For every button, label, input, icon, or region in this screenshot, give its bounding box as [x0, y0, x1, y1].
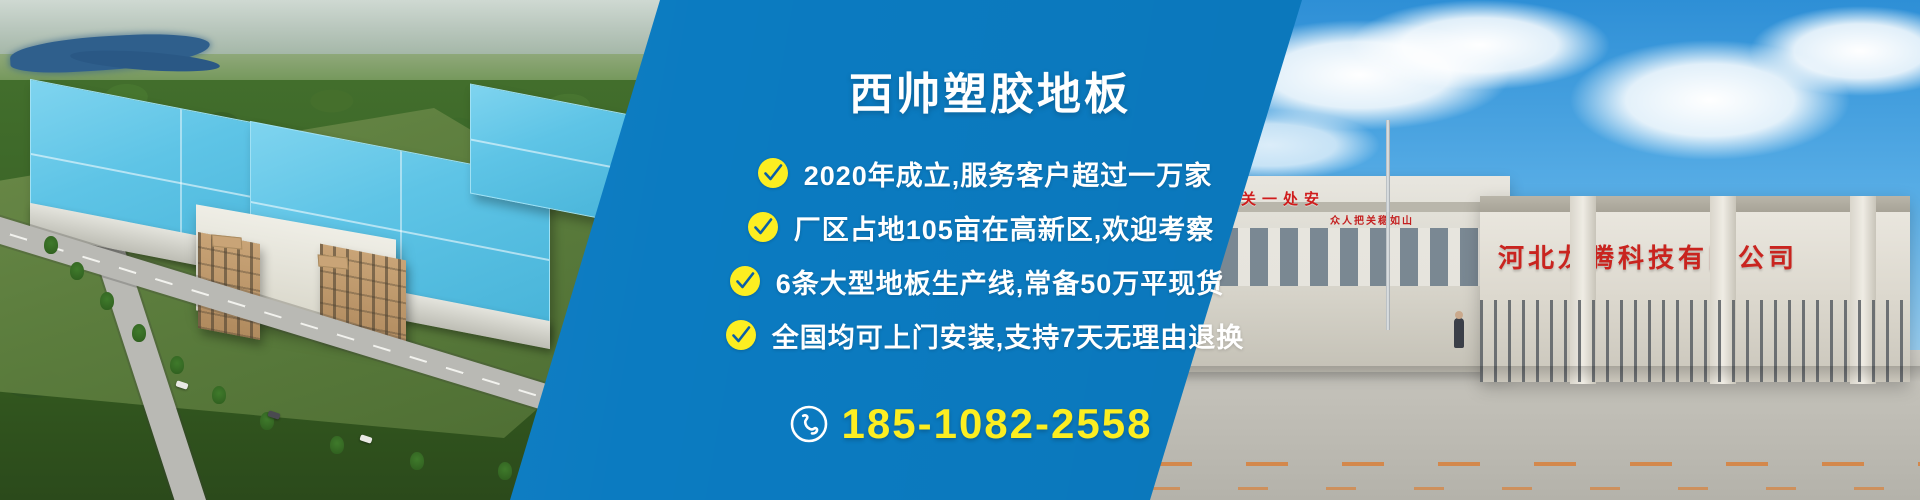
banner-content: 西帅塑胶地板 2020年成立,服务客户超过一万家 厂区占地105亩在高新区,欢迎… [0, 0, 1920, 500]
selling-point-item: 6条大型地板生产线,常备50万平现货 [56, 254, 1920, 308]
brand-title: 西帅塑胶地板 [0, 58, 1920, 122]
check-circle-icon [726, 320, 756, 350]
phone-handset-icon [790, 405, 828, 443]
phone-number[interactable]: 185-1082-2558 [842, 400, 1153, 448]
selling-point-text: 6条大型地板生产线,常备50万平现货 [776, 262, 1225, 301]
selling-point-item: 2020年成立,服务客户超过一万家 [56, 146, 1920, 200]
selling-point-text: 全国均可上门安装,支持7天无理由退换 [772, 316, 1245, 355]
promo-banner: 一人把关一处安 众人把关稳如山 河北龙腾科技有限公司 西帅塑胶地板 [0, 0, 1920, 500]
selling-point-text: 厂区占地105亩在高新区,欢迎考察 [794, 208, 1215, 247]
check-circle-icon [748, 212, 778, 242]
check-circle-icon [758, 158, 788, 188]
selling-point-item: 厂区占地105亩在高新区,欢迎考察 [56, 200, 1920, 254]
selling-points-list: 2020年成立,服务客户超过一万家 厂区占地105亩在高新区,欢迎考察 6条大型… [0, 146, 1920, 362]
selling-point-item: 全国均可上门安装,支持7天无理由退换 [56, 308, 1920, 362]
contact-phone[interactable]: 185-1082-2558 [0, 400, 1920, 448]
selling-point-text: 2020年成立,服务客户超过一万家 [804, 154, 1213, 193]
check-circle-icon [730, 266, 760, 296]
